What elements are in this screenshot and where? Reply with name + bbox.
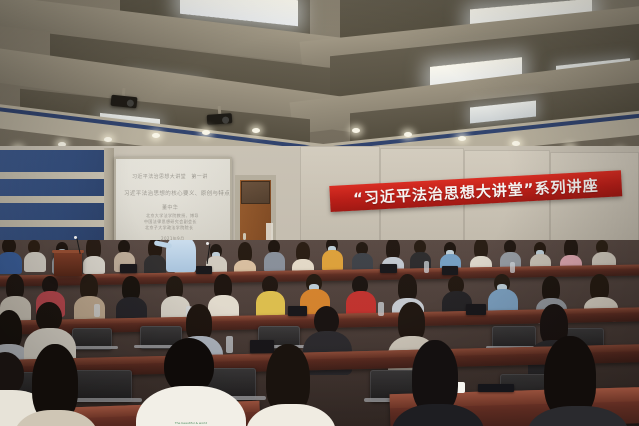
recessed-downlight xyxy=(352,128,360,133)
water-bottle xyxy=(510,262,515,273)
lecture-hall-photo: 习近平法治思想大讲堂 第一讲 习近平法治思想的核心要义、原创与特点 董中华 北京… xyxy=(0,0,639,426)
water-bottle xyxy=(378,302,384,316)
panel-trim-band xyxy=(0,172,104,179)
projector-lens-icon xyxy=(222,116,229,123)
recessed-downlight xyxy=(152,133,160,138)
ceiling xyxy=(0,0,639,152)
water-bottle xyxy=(94,304,100,317)
door-transom-glass xyxy=(241,181,270,203)
recessed-downlight xyxy=(252,128,260,133)
recessed-downlight xyxy=(104,137,112,142)
laptop xyxy=(442,266,458,275)
laptop xyxy=(120,264,137,273)
laptop xyxy=(380,264,397,273)
microphone-icon xyxy=(206,242,209,245)
laptop xyxy=(288,306,307,316)
laptop xyxy=(250,340,274,353)
water-bottle xyxy=(424,261,429,273)
panel-trim-band xyxy=(0,220,104,227)
seating-area: The beautiful & world I'm wonder of one … xyxy=(0,240,639,426)
recessed-downlight xyxy=(404,132,412,137)
ceiling-projector xyxy=(207,113,233,125)
water-bottle xyxy=(226,336,233,353)
panel-trim-band xyxy=(0,196,104,203)
laptop xyxy=(466,304,486,315)
recessed-downlight xyxy=(202,130,210,135)
chair-arm xyxy=(68,398,142,402)
door-frame-top xyxy=(235,175,276,180)
microphone-icon xyxy=(74,236,77,239)
recessed-downlight xyxy=(458,136,466,141)
laptop xyxy=(196,266,212,274)
projector-lens-icon xyxy=(127,99,135,107)
door-handle-icon[interactable] xyxy=(243,233,246,240)
lectern[interactable] xyxy=(54,250,82,276)
laptop xyxy=(478,384,514,392)
